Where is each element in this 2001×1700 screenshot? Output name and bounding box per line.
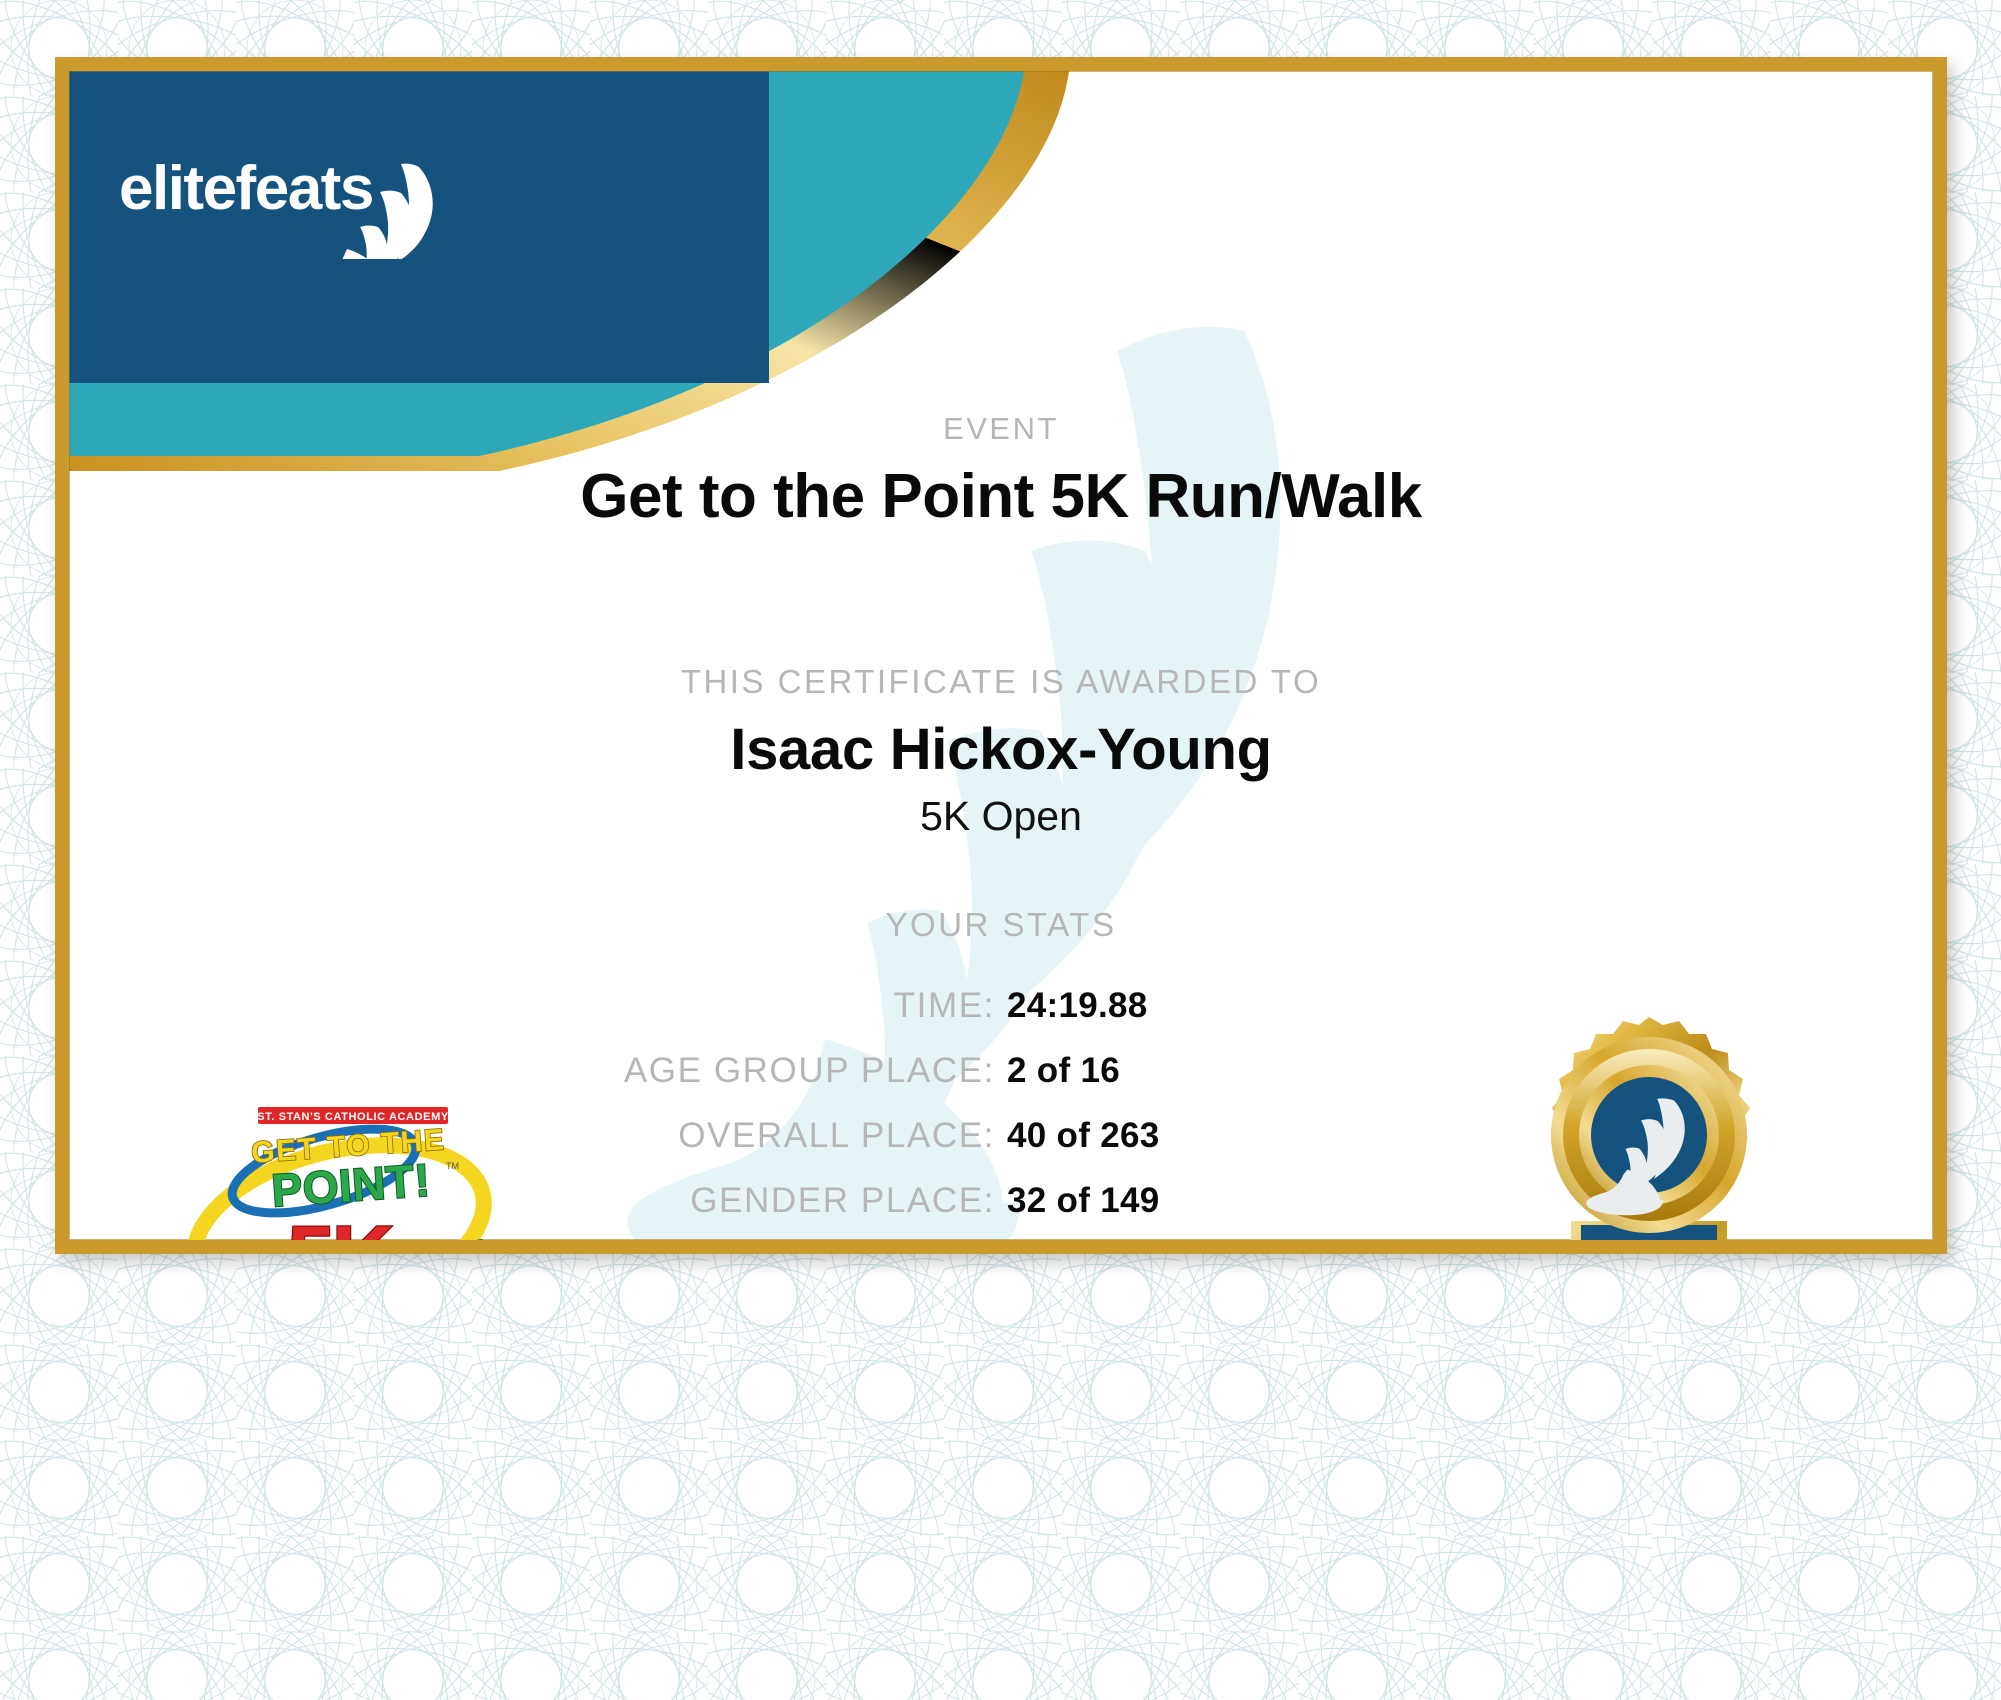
stat-label-gender-place: GENDER PLACE: [485,1181,1007,1221]
finisher-medal-icon: 2024 [1499,1011,1799,1254]
your-stats-label: YOUR STATS [69,906,1933,944]
logo-line-run: RUN [423,1234,487,1254]
logo-line-point: POINT! [270,1154,432,1217]
stat-value-overall-place: 40 of 263 [1007,1116,1517,1156]
medal-year: 2024 [1607,1246,1691,1254]
logo-trademark-mark: TM [446,1161,459,1171]
logo-top-banner-text: ST. STAN'S CATHOLIC ACADEMY [257,1111,449,1123]
recipient-division: 5K Open [69,793,1933,840]
brand-wordmark: elitefeats [119,154,373,223]
logo-green-dot [262,1252,310,1254]
finisher-medal-block: 2024 [1459,1011,1839,1254]
stat-label-age-group-place: AGE GROUP PLACE: [485,1051,1007,1091]
event-title: Get to the Point 5K Run/Walk [69,461,1933,532]
awarded-to-label: THIS CERTIFICATE IS AWARDED TO [69,663,1933,701]
certificate-page: elitefeats EVENT Get to the Point 5K Run… [0,0,2001,1700]
medal-scallop-ring [1551,1017,1750,1233]
certificate-card: elitefeats EVENT Get to the Point 5K Run… [55,57,1947,1254]
stat-value-time: 24:19.88 [1007,986,1517,1026]
stat-value-gender-place: 32 of 149 [1007,1181,1517,1221]
stat-label-overall-place: OVERALL PLACE: [485,1116,1007,1156]
elitefeats-logo: elitefeats [119,149,499,259]
race-event-logo: ST. STAN'S CATHOLIC ACADEMY GET TO THE P… [174,1101,504,1254]
logo-line-5k: 5K [287,1209,394,1254]
recipient-name: Isaac Hickox-Young [69,716,1933,783]
stat-value-age-group-place: 2 of 16 [1007,1051,1517,1091]
event-label: EVENT [69,411,1933,447]
stat-label-time: TIME: [485,986,1007,1026]
